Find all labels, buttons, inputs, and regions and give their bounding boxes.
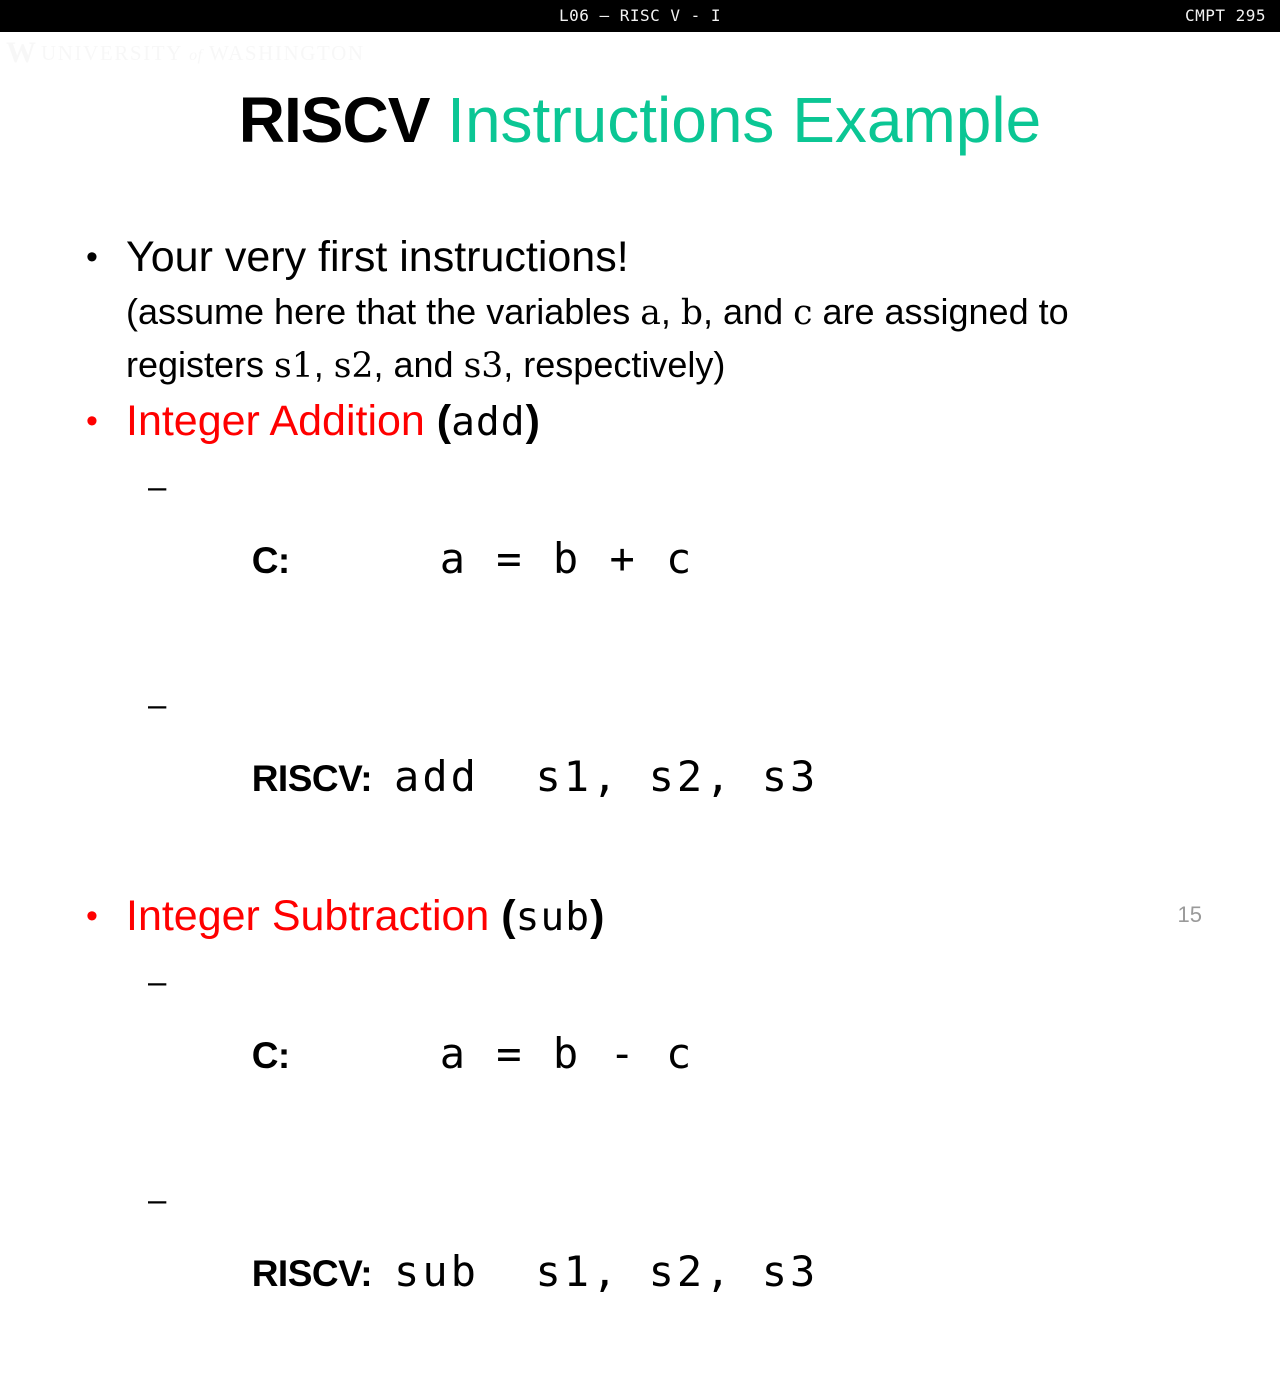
- paren-open-sub: (: [489, 892, 515, 940]
- subtraction-riscv-code: sub s1, s2, s3: [394, 1247, 818, 1296]
- note-line1-pre: (assume here that the variables: [126, 291, 640, 332]
- slide-title-space: [429, 84, 447, 156]
- subtraction-c-code: a = b - c: [440, 1029, 695, 1078]
- note-mid-1: , and: [703, 291, 793, 332]
- slide-root: L06 – RISC V - I CMPT 295 W UNIVERSITY o…: [0, 0, 1280, 960]
- slide-title: RISCV Instructions Example: [0, 80, 1280, 160]
- uw-word-of: of: [189, 47, 202, 64]
- addition-riscv-code: add s1, s2, s3: [394, 752, 818, 801]
- uw-w-mark-icon: W: [6, 38, 32, 68]
- subtraction-riscv-label: RISCV:: [252, 1253, 372, 1294]
- note-mid-2: , and: [374, 344, 464, 385]
- addition-riscv-line: –RISCV:add s1, s2, s3: [64, 669, 1244, 887]
- note-line2-pre: registers: [126, 344, 274, 385]
- uw-word-university: UNIVERSITY: [41, 41, 182, 65]
- addition-c-label: C:: [252, 540, 290, 581]
- bullet-dot-icon: •: [86, 887, 98, 945]
- bullet-integer-addition: •Integer Addition (add): [64, 392, 1244, 451]
- note-sep-1: ,: [661, 291, 681, 332]
- mnemonic-sub: sub: [516, 894, 590, 940]
- assume-note-line-1: (assume here that the variables a, b, an…: [64, 286, 1244, 339]
- var-b: b: [681, 293, 703, 333]
- slide-body: •Your very first instructions! (assume h…: [64, 228, 1244, 1382]
- course-code-text: CMPT 295: [1185, 6, 1266, 25]
- subtraction-c-line: –C:a = b - c: [64, 946, 1244, 1164]
- bullet-integer-subtraction: •Integer Subtraction (sub): [64, 887, 1244, 946]
- paren-open-glyph: (: [437, 397, 451, 445]
- var-a: a: [640, 293, 661, 333]
- reg-s1: s1: [274, 346, 314, 386]
- note-sep-2: ,: [314, 344, 334, 385]
- reg-s2: s2: [334, 346, 374, 386]
- uw-wordmark: UNIVERSITY of WASHINGTON: [41, 43, 365, 64]
- uw-word-washington: WASHINGTON: [209, 41, 365, 65]
- paren-close-add: ): [526, 397, 540, 445]
- bullet-your-first-instructions: •Your very first instructions!: [64, 228, 1244, 286]
- reg-s3: s3: [464, 346, 504, 386]
- var-c: c: [793, 293, 812, 333]
- bullet-1-text: Your very first instructions!: [126, 233, 629, 281]
- note-line1-post: are assigned to: [812, 291, 1068, 332]
- subtraction-riscv-line: –RISCV:sub s1, s2, s3: [64, 1164, 1244, 1382]
- slide-title-accent: Instructions Example: [447, 84, 1041, 156]
- bullet-dot-icon: •: [86, 228, 98, 286]
- assume-note-line-2: registers s1, s2, and s3, respectively): [64, 339, 1244, 392]
- slide-header-bar: L06 – RISC V - I CMPT 295: [0, 0, 1280, 32]
- addition-c-line: –C:a = b + c: [64, 451, 1244, 669]
- slide-title-strong: RISCV: [239, 84, 430, 156]
- paren-open-add: (: [425, 397, 451, 445]
- paren-close-sub: ): [590, 892, 604, 940]
- integer-addition-label: Integer Addition: [126, 397, 425, 445]
- dash-glyph-icon: –: [148, 1164, 166, 1236]
- lecture-title-text: L06 – RISC V - I: [0, 6, 1280, 25]
- university-logo-watermark: W UNIVERSITY of WASHINGTON: [6, 36, 365, 70]
- mnemonic-add: add: [451, 399, 525, 445]
- paren-open-glyph: (: [501, 892, 515, 940]
- dash-glyph-icon: –: [148, 669, 166, 741]
- bullet-dot-icon: •: [86, 392, 98, 450]
- addition-riscv-label: RISCV:: [252, 758, 372, 799]
- note-line2-post: , respectively): [503, 344, 725, 385]
- dash-glyph-icon: –: [148, 946, 166, 1018]
- integer-subtraction-label: Integer Subtraction: [126, 892, 489, 940]
- subtraction-c-label: C:: [252, 1035, 290, 1076]
- addition-c-code: a = b + c: [440, 534, 695, 583]
- page-number: 15: [1178, 902, 1202, 928]
- dash-glyph-icon: –: [148, 451, 166, 523]
